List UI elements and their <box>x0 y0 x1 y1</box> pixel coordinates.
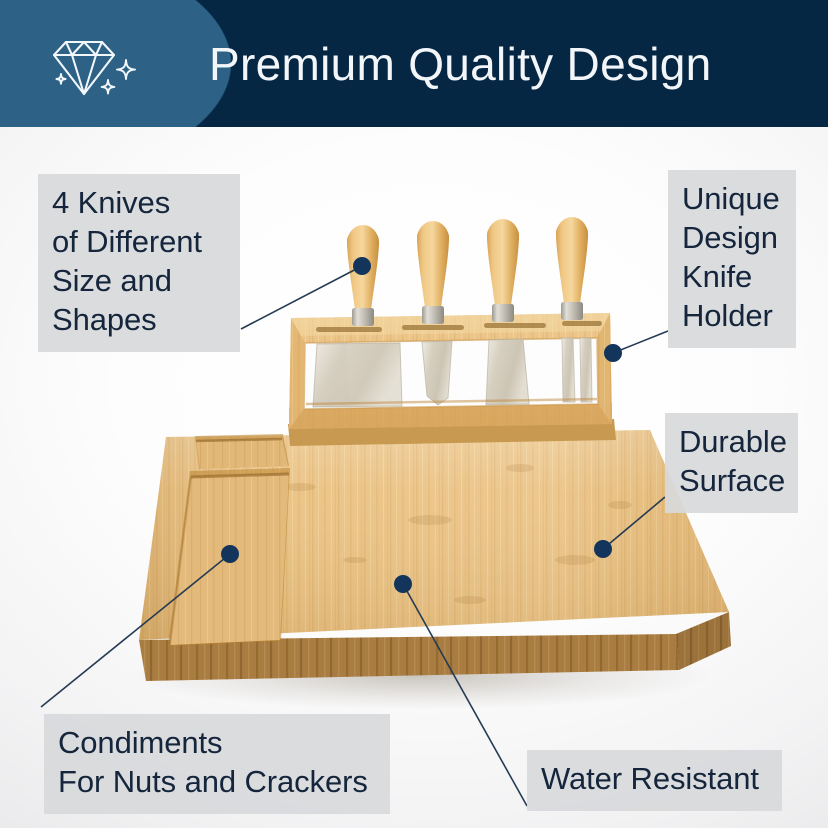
knife-blade-spade <box>486 339 529 405</box>
callout-label-durable: Durable Surface <box>665 413 798 513</box>
callout-label-holder: Unique Design Knife Holder <box>668 170 796 348</box>
ferrule-2 <box>422 306 444 324</box>
ferrule-1 <box>352 308 374 326</box>
infographic-canvas: Premium Quality Design <box>0 0 828 828</box>
knife-handle-4 <box>556 217 588 320</box>
callout-label-knives: 4 Knives of Different Size and Shapes <box>38 174 240 352</box>
knife-handle-3 <box>487 219 519 322</box>
ferrule-4 <box>561 302 583 320</box>
condiment-well-upper <box>195 434 289 469</box>
knife-handle-2 <box>417 221 449 324</box>
callout-label-water: Water Resistant <box>527 750 782 811</box>
knife-handles <box>347 217 588 326</box>
knife-holder <box>288 313 616 446</box>
ferrule-3 <box>492 304 514 322</box>
callout-label-condiments: Condiments For Nuts and Crackers <box>44 714 390 814</box>
knife-handle-1 <box>347 225 379 326</box>
